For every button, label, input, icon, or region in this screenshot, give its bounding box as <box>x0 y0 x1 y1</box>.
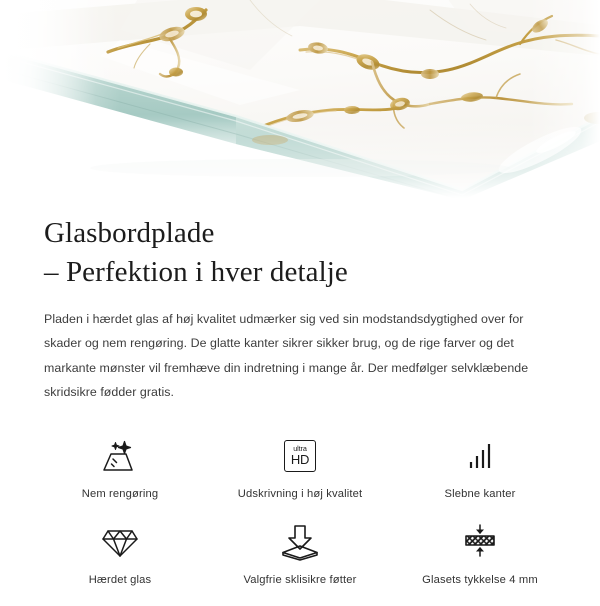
feature-item-print-quality: ultra HD Udskrivning i høj kvalitet <box>210 434 390 520</box>
page-title-line-1: Glasbordplade <box>44 214 556 253</box>
feature-label: Slebne kanter <box>445 487 516 502</box>
page-title-line-2: – Perfektion i hver detalje <box>44 253 556 292</box>
feature-item-glass-thickness: Glasets tykkelse 4 mm <box>390 520 570 606</box>
ultra-hd-icon: ultra HD <box>272 434 328 478</box>
polished-edges-icon <box>452 434 508 478</box>
feature-label: Valgfrie sklisikre føtter <box>244 573 357 588</box>
feature-item-anti-slip-feet: Valgfrie sklisikre føtter <box>210 520 390 606</box>
glass-tabletop-photo <box>0 0 600 200</box>
feature-item-polished-edges: Slebne kanter <box>390 434 570 520</box>
feature-item-tempered-glass: Hærdet glas <box>30 520 210 606</box>
product-description-page: Glasbordplade – Perfektion i hver detalj… <box>0 0 600 600</box>
glass-thickness-icon <box>452 520 508 564</box>
easy-clean-icon <box>92 434 148 478</box>
hero-product-image <box>0 0 600 200</box>
ultra-hd-badge-top: ultra <box>293 445 306 452</box>
feature-label: Udskrivning i høj kvalitet <box>238 487 363 502</box>
page-title: Glasbordplade – Perfektion i hver detalj… <box>44 214 556 291</box>
feature-label: Glasets tykkelse 4 mm <box>422 573 538 588</box>
description-content: Glasbordplade – Perfektion i hver detalj… <box>0 200 600 404</box>
ultra-hd-badge-main: HD <box>291 453 309 466</box>
anti-slip-feet-icon <box>272 520 328 564</box>
feature-label: Nem rengøring <box>82 487 159 502</box>
ultra-hd-badge: ultra HD <box>284 440 316 472</box>
tempered-glass-icon <box>92 520 148 564</box>
description-paragraph: Pladen i hærdet glas af høj kvalitet udm… <box>44 307 556 404</box>
feature-item-easy-clean: Nem rengøring <box>30 434 210 520</box>
feature-grid: Nem rengøring ultra HD Udskrivning i høj… <box>0 434 600 606</box>
feature-label: Hærdet glas <box>89 573 152 588</box>
